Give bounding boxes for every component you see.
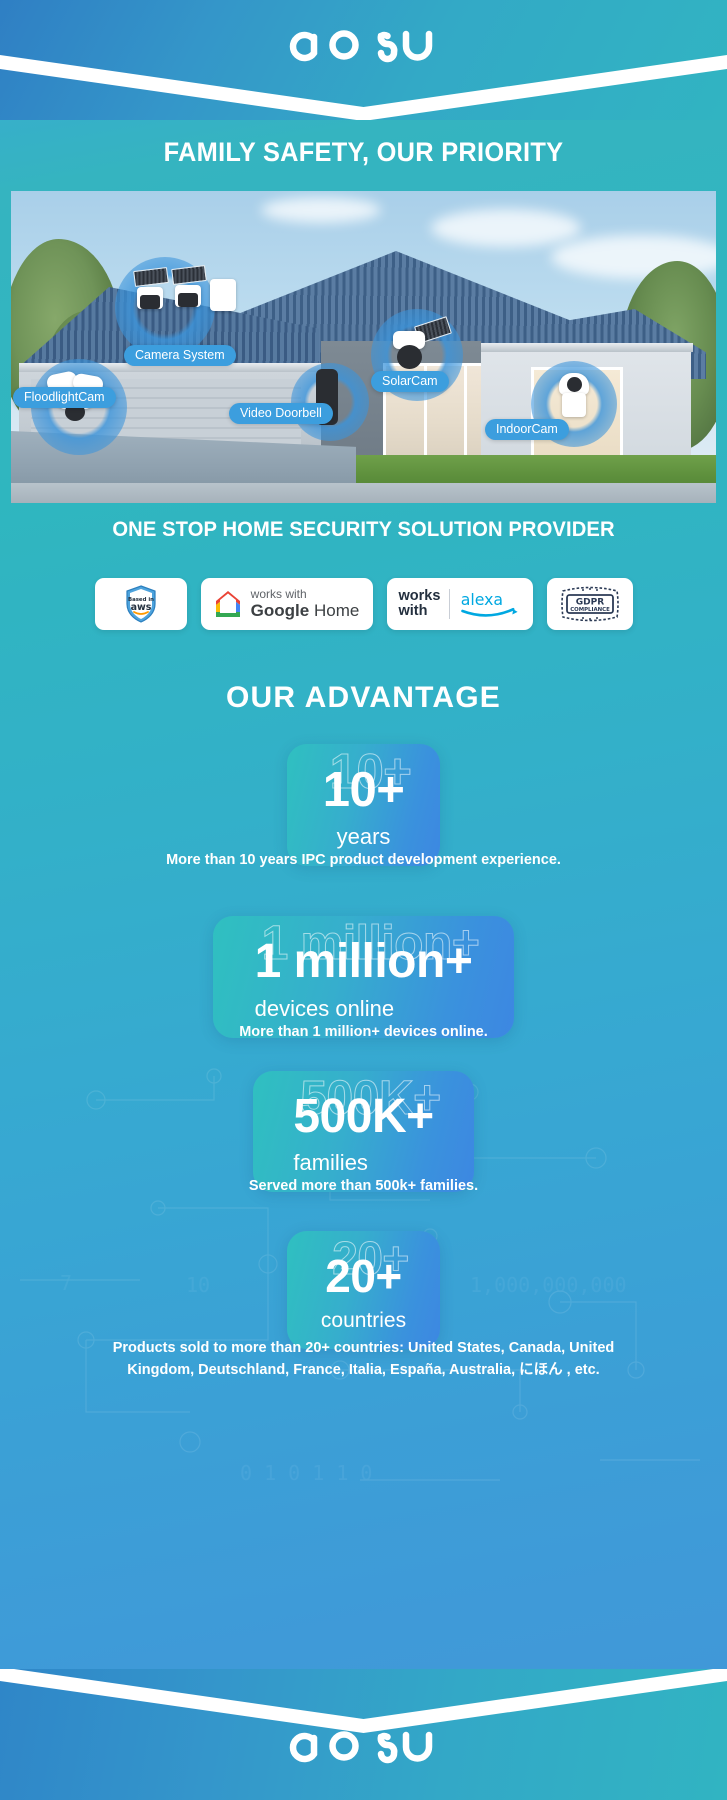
stat-caption: Products sold to more than 20+ countries… (0, 1338, 727, 1382)
hub-base-station (210, 279, 236, 311)
camera-lens (397, 345, 422, 369)
badge-alexa[interactable]: works with alexa (387, 578, 533, 630)
badge-gdpr[interactable]: GDPR COMPLIANCE (547, 578, 633, 630)
divider (449, 589, 450, 619)
svg-text:GDPR: GDPR (575, 598, 603, 608)
indoorcam-base (562, 393, 586, 417)
stat-card: 1 million+ 1 million+ devices online (213, 916, 515, 1038)
badge-google-home[interactable]: works with Google Home (201, 578, 373, 630)
stat-card-years: 10+ 10+ years (0, 744, 727, 866)
chevron-divider-top (0, 55, 727, 120)
cloud (431, 209, 581, 247)
advantage-title: OUR ADVANTAGE (0, 681, 727, 715)
hero-image: Camera System FloodlightCam Video Doorbe… (11, 191, 716, 503)
stat-value: 20+ (321, 1253, 406, 1299)
shield-icon: Based in aws (124, 584, 158, 624)
google-label: Google (251, 601, 310, 620)
camera-lens (140, 295, 160, 309)
marker-indoorcam[interactable]: IndoorCam (485, 419, 569, 440)
stat-value: 10+ (323, 766, 405, 815)
stat-card: 500K+ 500K+ families (253, 1071, 473, 1192)
fascia (481, 343, 693, 352)
page-title: FAMILY SAFETY, OUR PRIORITY (22, 137, 705, 168)
stat-caption: More than 10 years IPC product developme… (0, 850, 727, 872)
top-banner: aosu (0, 0, 727, 120)
marker-floodlightcam[interactable]: FloodlightCam (13, 387, 116, 408)
aosu-logo-icon (285, 1723, 443, 1769)
google-home-icon (214, 589, 242, 619)
marker-camera-system[interactable]: Camera System (124, 345, 236, 366)
svg-text:COMPLIANCE: COMPLIANCE (570, 607, 610, 613)
stat-value: 500K+ (293, 1093, 433, 1141)
footpath (11, 483, 716, 503)
alexa-with-label: with (399, 604, 441, 619)
bottom-banner: aosu (0, 1669, 727, 1800)
home-label: Home (309, 601, 359, 620)
stat-unit: devices online (255, 998, 473, 1020)
marker-video-doorbell[interactable]: Video Doorbell (229, 403, 333, 424)
stat-card: 20+ 20+ countries (287, 1231, 440, 1349)
tagline: ONE STOP HOME SECURITY SOLUTION PROVIDER (22, 517, 705, 542)
camera-lens (178, 293, 198, 307)
cloud (261, 197, 381, 223)
footer-logo: aosu (0, 1723, 727, 1774)
gdpr-seal-icon: GDPR COMPLIANCE (559, 583, 621, 625)
camera-lens (567, 377, 582, 392)
alexa-works-label: works (399, 589, 441, 604)
stat-card-countries: 20+ 20+ countries (0, 1231, 727, 1349)
alexa-smile-icon: alexa (459, 587, 520, 621)
stat-value: 1 million+ (255, 938, 473, 986)
stat-caption: Served more than 500k+ families. (0, 1176, 727, 1198)
stat-card-devices: 1 million+ 1 million+ devices online (0, 916, 727, 1038)
stat-card: 10+ 10+ years (287, 744, 441, 866)
stat-caption: More than 1 million+ devices online. (0, 1022, 727, 1044)
google-works-with-label: works with (251, 588, 360, 601)
svg-text:alexa: alexa (461, 590, 503, 609)
stat-unit: years (323, 826, 405, 848)
marker-solarcam[interactable]: SolarCam (371, 371, 449, 392)
stat-unit: countries (321, 1310, 406, 1331)
badge-aws[interactable]: Based in aws (95, 578, 187, 630)
stat-card-families: 500K+ 500K+ families (0, 1071, 727, 1192)
stat-unit: families (293, 1152, 433, 1174)
infographic-page: 7 10 1,000,000,000 0 1 0 1 1 0 aosu (0, 0, 727, 1800)
svg-text:0 1 0 1 1 0: 0 1 0 1 1 0 (240, 1461, 372, 1485)
certification-badges: Based in aws works with Google Home (0, 578, 727, 630)
